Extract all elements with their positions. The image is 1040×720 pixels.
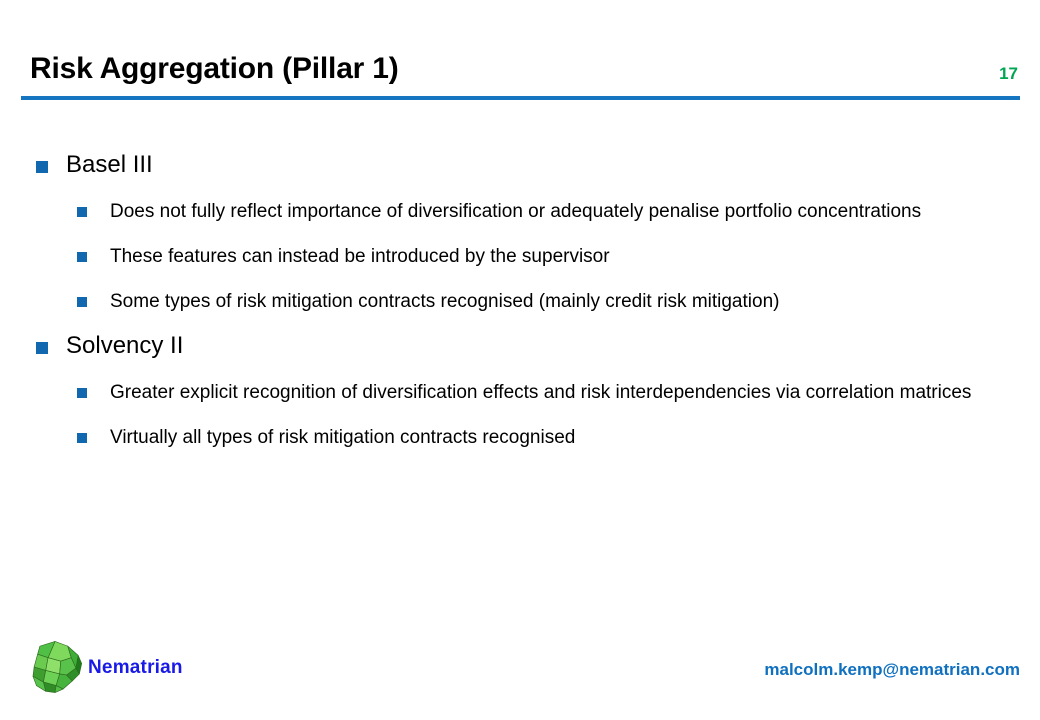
square-bullet-icon (36, 161, 48, 173)
bullet-level2-item: Does not fully reflect importance of div… (0, 198, 1040, 225)
bullet-level1-label: Solvency II (66, 332, 183, 359)
bullet-level2-label: These features can instead be introduced… (110, 246, 610, 267)
brand-name: Nematrian (88, 657, 183, 679)
bullet-level1-label: Basel III (66, 151, 153, 178)
square-bullet-icon (77, 252, 87, 262)
bullet-level2-label: Greater explicit recognition of diversif… (110, 382, 971, 403)
section-spacer (0, 315, 1040, 331)
green-polyhedron-logo-icon (26, 638, 84, 696)
bullet-level2-label: Some types of risk mitigation contracts … (110, 291, 779, 312)
bullet-level2-item: These features can instead be introduced… (0, 243, 1040, 270)
title-divider-rule (21, 96, 1020, 100)
square-bullet-icon (77, 207, 87, 217)
bullet-level2-label: Does not fully reflect importance of div… (110, 201, 921, 222)
square-bullet-icon (77, 433, 87, 443)
bullet-level1-basel-iii: Basel III (0, 150, 1040, 180)
page-number: 17 (999, 64, 1018, 84)
bullet-level2-label: Virtually all types of risk mitigation c… (110, 427, 575, 448)
slide-footer: Nematrian malcolm.kemp@nematrian.com (0, 630, 1040, 720)
bullet-level1-solvency-ii: Solvency II (0, 331, 1040, 361)
contact-email-link[interactable]: malcolm.kemp@nematrian.com (764, 660, 1020, 680)
bullet-level2-item: Greater explicit recognition of diversif… (0, 379, 1040, 406)
square-bullet-icon (36, 342, 48, 354)
bullet-level2-item: Some types of risk mitigation contracts … (0, 288, 1040, 315)
page-title: Risk Aggregation (Pillar 1) (30, 52, 399, 86)
bullet-level2-item: Virtually all types of risk mitigation c… (0, 424, 1040, 451)
square-bullet-icon (77, 388, 87, 398)
slide-body: Basel III Does not fully reflect importa… (0, 150, 1040, 451)
square-bullet-icon (77, 297, 87, 307)
